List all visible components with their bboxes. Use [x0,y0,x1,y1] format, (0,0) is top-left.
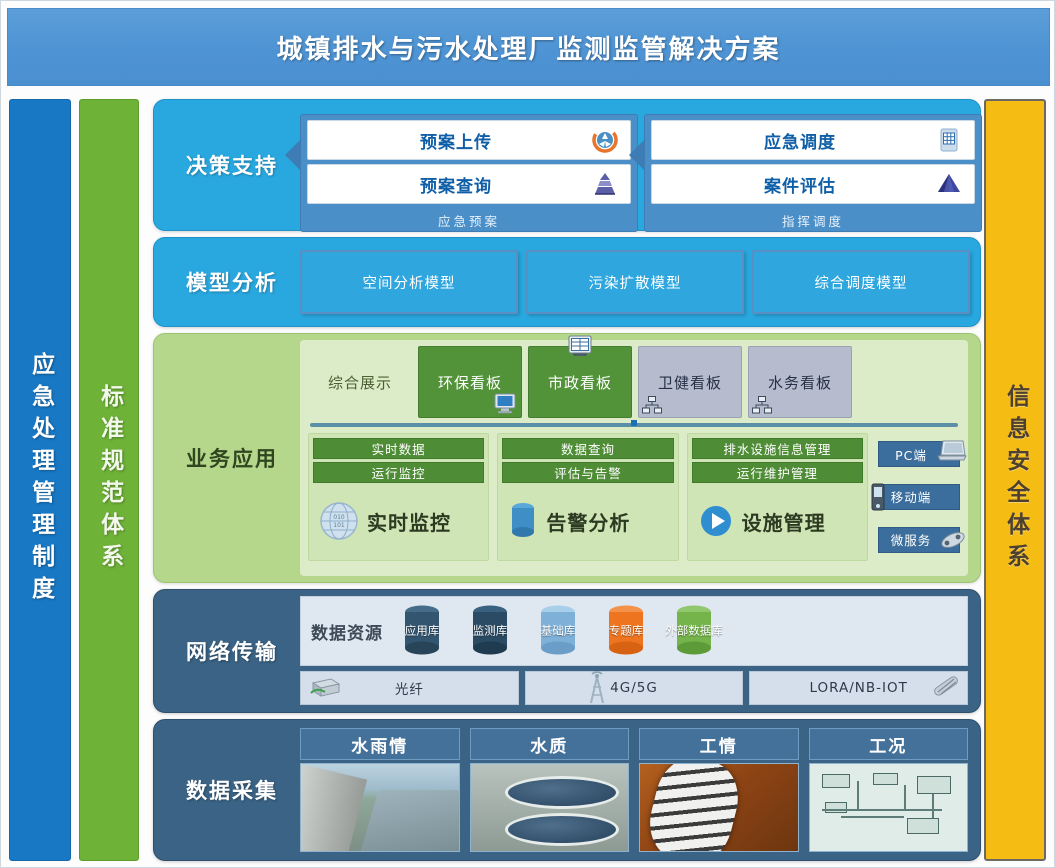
business-main-realtime-monitoring-label: 实时监控 [367,507,451,536]
access-channels: PC端 移动端 [876,433,960,561]
layer-network-transmission-label: 网络传输 [168,590,296,712]
channel-mobile[interactable]: 移动端 [878,484,960,510]
sidebar-right-label: 信息安全体系 [1002,384,1027,576]
decision-item-plan-query[interactable]: 预案查询 [307,164,631,204]
channel-microservice[interactable]: 微服务 [878,527,960,553]
showcase-divider [310,423,958,427]
transport-row: 光纤 4G/5G [300,671,968,705]
arrow-left-icon [285,139,301,171]
data-resources-row: 数据资源 应用库 [300,596,968,666]
dashboard-card-water-affairs-label: 水务看板 [768,372,832,393]
acquisition-card-water-rain[interactable]: 水雨情 [300,728,460,852]
network-icon [642,396,662,414]
business-bar-realtime-data-label: 实时数据 [372,439,426,458]
database-application[interactable]: 应用库 [393,603,451,659]
fiber-cable-icon [309,675,343,701]
play-circle-icon [696,501,736,541]
model-item-spatial-analysis[interactable]: 空间分析模型 [300,250,518,314]
layer-decision-support-label: 决策支持 [168,100,296,230]
business-main-facility-management[interactable]: 设施管理 [692,486,863,556]
database-icon [506,500,540,542]
diagram-root: 城镇排水与污水处理厂监测监管解决方案 应急处理管理制度 标准规范体系 信息安全体… [0,0,1055,868]
layer-model-analysis: 模型分析 空间分析模型 污染扩散模型 综合调度模型 [153,237,981,327]
diagram-title-bar: 城镇排水与污水处理厂监测监管解决方案 [7,8,1050,86]
sedimentation-pond-photo [470,763,630,852]
dashboard-card-health[interactable]: 卫健看板 [638,346,742,418]
globe-icon: 010 101 [317,499,361,543]
layer-data-acquisition-label: 数据采集 [168,720,296,860]
window-icon [567,335,593,359]
acquisition-card-working-condition[interactable]: 工况 [809,728,969,852]
decision-group-emergency-plan: 预案上传 预案查询 [300,114,638,232]
layer-business-application-label: 业务应用 [168,334,296,582]
database-application-label: 应用库 [393,624,451,637]
business-bar-drainage-facility-info-label: 排水设施信息管理 [723,439,831,458]
sidebar-left-2-label: 标准规范体系 [96,384,121,576]
business-bar-data-query-label: 数据查询 [561,439,615,458]
layer-network-transmission: 网络传输 数据资源 应用库 [153,589,981,713]
dashboard-card-water-affairs[interactable]: 水务看板 [748,346,852,418]
acquisition-card-engineering-label: 工情 [639,728,799,760]
database-foundation[interactable]: 基础库 [529,603,587,659]
grid-table-icon [936,127,962,153]
transport-fiber-label: 光纤 [395,678,424,698]
acquisition-card-working-condition-label: 工况 [809,728,969,760]
sidebar-information-security-system: 信息安全体系 [984,99,1046,861]
model-item-pollution-diffusion-label: 污染扩散模型 [589,272,682,293]
decision-item-case-evaluation-label: 案件评估 [652,172,974,197]
transport-4g5g[interactable]: 4G/5G [525,671,744,705]
business-column-facility: 排水设施信息管理 运行维护管理 设施 [687,433,868,561]
database-foundation-label: 基础库 [529,624,587,637]
decision-group-command-dispatch-footer: 指挥调度 [651,208,975,230]
database-monitoring[interactable]: 监测库 [461,603,519,659]
showcase-row: 综合展示 环保看板 市政看板 [308,346,960,418]
monitor-icon [493,392,517,414]
dashboard-card-health-label: 卫健看板 [658,372,722,393]
arrow-left-icon [629,139,645,171]
dashboard-card-municipal-label: 市政看板 [548,372,612,393]
laptop-icon [937,438,967,464]
business-bar-evaluation-alarm[interactable]: 评估与告警 [502,462,673,483]
database-external[interactable]: 外部数据库 [665,603,723,659]
business-bar-operation-monitoring[interactable]: 运行监控 [313,462,484,483]
transport-4g5g-label: 4G/5G [610,680,658,696]
business-bar-drainage-facility-info[interactable]: 排水设施信息管理 [692,438,863,459]
antenna-icon [929,670,963,700]
dashboard-card-environment-label: 环保看板 [438,372,502,393]
network-icon [752,396,772,414]
model-item-integrated-dispatch[interactable]: 综合调度模型 [752,250,970,314]
canal-photo [300,763,460,852]
service-icon [939,527,967,553]
business-column-query: 数据查询 评估与告警 [497,433,678,561]
acquisition-card-water-quality-label: 水质 [470,728,630,760]
model-item-spatial-analysis-label: 空间分析模型 [363,272,456,293]
svg-text:101: 101 [333,522,345,529]
business-main-realtime-monitoring[interactable]: 010 101 实时监控 [313,486,484,556]
cell-tower-icon [586,671,608,705]
transport-lora-nbiot-label: LORA/NB-IOT [809,680,907,696]
decision-item-emergency-dispatch-label: 应急调度 [652,128,974,153]
layer-model-analysis-label: 模型分析 [168,238,296,326]
acquisition-card-water-rain-label: 水雨情 [300,728,460,760]
svg-text:010: 010 [333,514,345,521]
mobile-phone-icon [867,482,889,512]
business-bar-data-query[interactable]: 数据查询 [502,438,673,459]
decision-item-emergency-dispatch[interactable]: 应急调度 [651,120,975,160]
channel-mobile-label: 移动端 [879,487,959,506]
business-main-alarm-analysis-label: 告警分析 [546,507,630,536]
database-thematic-label: 专题库 [597,624,655,637]
transport-fiber[interactable]: 光纤 [300,671,519,705]
business-columns: 实时数据 运行监控 [308,433,960,561]
business-bar-evaluation-alarm-label: 评估与告警 [554,463,622,482]
layer-business-application: 业务应用 综合展示 环保看板 [153,333,981,583]
dashboard-card-municipal[interactable]: 市政看板 [528,346,632,418]
data-resources-label: 数据资源 [311,619,383,644]
decision-item-case-evaluation[interactable]: 案件评估 [651,164,975,204]
pipeline-trench-photo [639,763,799,852]
model-item-integrated-dispatch-label: 综合调度模型 [815,272,908,293]
showcase-label: 综合展示 [308,346,412,418]
sidebar-left-1-label: 应急处理管理制度 [27,352,52,608]
decision-group-emergency-plan-footer: 应急预案 [307,208,631,230]
sidebar-standard-specification-system: 标准规范体系 [79,99,139,861]
decision-group-command-dispatch: 应急调度 案件评 [644,114,982,232]
business-bar-operation-maintenance[interactable]: 运行维护管理 [692,462,863,483]
decision-item-plan-upload-label: 预案上传 [308,128,630,153]
business-bar-realtime-data[interactable]: 实时数据 [313,438,484,459]
page-title: 城镇排水与污水处理厂监测监管解决方案 [276,29,780,66]
sidebar-emergency-management-system: 应急处理管理制度 [9,99,71,861]
layer-decision-support: 决策支持 预案上传 [153,99,981,231]
business-bar-operation-maintenance-label: 运行维护管理 [737,463,818,482]
recycle-circle-icon [592,127,618,153]
business-main-facility-management-label: 设施管理 [742,507,826,536]
decision-item-plan-query-label: 预案查询 [308,172,630,197]
transport-lora-nbiot[interactable]: LORA/NB-IOT [749,671,968,705]
acquisition-card-water-quality[interactable]: 水质 [470,728,630,852]
pyramid-chart-icon [592,171,618,197]
channel-pc[interactable]: PC端 [878,441,960,467]
model-item-pollution-diffusion[interactable]: 污染扩散模型 [526,250,744,314]
business-bar-operation-monitoring-label: 运行监控 [372,463,426,482]
layers-column: 决策支持 预案上传 [153,99,981,861]
database-thematic[interactable]: 专题库 [597,603,655,659]
dashboard-card-environment[interactable]: 环保看板 [418,346,522,418]
acquisition-card-engineering[interactable]: 工情 [639,728,799,852]
decision-item-plan-upload[interactable]: 预案上传 [307,120,631,160]
business-column-realtime: 实时数据 运行监控 [308,433,489,561]
database-external-label: 外部数据库 [665,624,723,637]
process-schematic-photo [809,763,969,852]
database-monitoring-label: 监测库 [461,624,519,637]
pyramid-3d-icon [936,171,962,197]
business-main-alarm-analysis[interactable]: 告警分析 [502,486,673,556]
layer-data-acquisition: 数据采集 水雨情 水质 工情 [153,719,981,861]
